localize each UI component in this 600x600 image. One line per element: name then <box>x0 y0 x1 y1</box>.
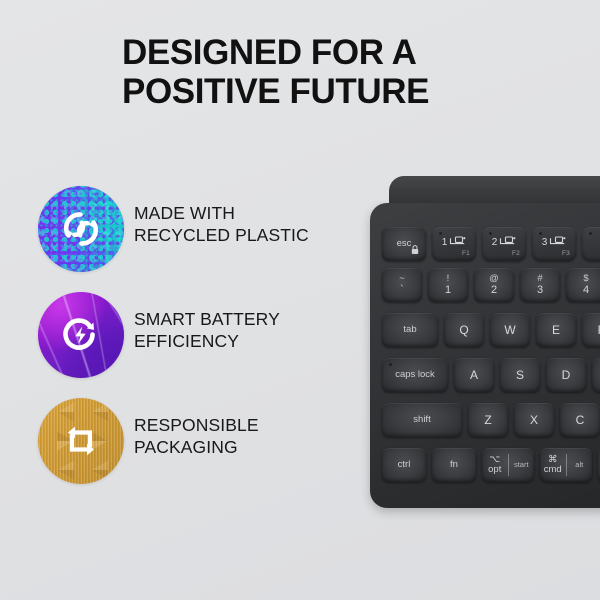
key-label-secondary: start <box>514 461 529 469</box>
key-x[interactable]: X <box>514 403 554 437</box>
key-q[interactable]: Q <box>444 313 484 347</box>
key-label: C <box>576 414 585 427</box>
device-screen-icon <box>449 236 466 250</box>
key-led-indicator <box>489 232 492 235</box>
feature-item-responsible-packaging: RESPONSIBLE PACKAGING <box>38 398 358 504</box>
key-f[interactable]: F <box>592 358 600 392</box>
key-3[interactable]: # 3 <box>520 268 560 302</box>
key-fn-sublabel: F1 <box>462 251 470 258</box>
keyboard-keys: esc 1 <box>370 203 600 508</box>
key-label: E <box>552 324 560 337</box>
key-1[interactable]: ! 1 <box>428 268 468 302</box>
key-tab[interactable]: tab <box>382 313 438 347</box>
key-label: Q <box>459 324 468 337</box>
key-backtick[interactable]: ~ ` <box>382 268 422 302</box>
key-fn-main: 2 <box>482 236 526 250</box>
keyboard-row-home-row: caps lock A S D F <box>382 358 600 392</box>
key-label: ctrl <box>398 460 411 470</box>
key-f4[interactable]: 4 F4 <box>582 227 600 261</box>
key-fn-main: 3 <box>532 236 576 250</box>
feature-list: MADE WITH RECYCLED PLASTIC SMART BATTERY… <box>38 186 358 504</box>
key-win-side: alt <box>567 448 593 482</box>
key-fn-main: 4 <box>582 236 600 247</box>
feature-label: MADE WITH RECYCLED PLASTIC <box>134 203 369 247</box>
key-mac-side: ⌥ opt <box>482 448 508 482</box>
key-command-alt[interactable]: ⌘ cmd alt <box>540 448 592 482</box>
key-4[interactable]: $ 4 <box>566 268 600 302</box>
key-label: 3 <box>542 238 548 249</box>
key-label: esc <box>397 239 412 249</box>
device-screen-icon <box>549 236 566 250</box>
key-label: ` <box>400 285 404 297</box>
key-label-shifted: $ <box>583 274 588 284</box>
key-caps-lock[interactable]: caps lock <box>382 358 448 392</box>
key-label: X <box>530 414 538 427</box>
key-label: fn <box>450 460 458 470</box>
key-w[interactable]: W <box>490 313 530 347</box>
key-esc[interactable]: esc <box>382 227 426 261</box>
key-shift[interactable]: shift <box>382 403 462 437</box>
promo-graphic: DESIGNED FOR A POSITIVE FUTURE <box>0 0 600 600</box>
feature-item-recycled-plastic: MADE WITH RECYCLED PLASTIC <box>38 186 358 292</box>
key-ctrl[interactable]: ctrl <box>382 448 426 482</box>
key-mac-side: ⌘ cmd <box>540 448 566 482</box>
key-label-secondary: alt <box>575 461 583 469</box>
key-fn-sublabel: F3 <box>562 251 570 258</box>
key-label: caps lock <box>395 370 435 380</box>
feature-label: SMART BATTERY EFFICIENCY <box>134 309 369 353</box>
key-d[interactable]: D <box>546 358 586 392</box>
feature-label: RESPONSIBLE PACKAGING <box>134 415 369 459</box>
key-label: 1 <box>445 285 451 297</box>
key-c[interactable]: C <box>560 403 600 437</box>
key-label: cmd <box>544 465 562 475</box>
key-r[interactable]: R <box>582 313 600 347</box>
key-z[interactable]: Z <box>468 403 508 437</box>
key-label: W <box>504 324 515 337</box>
key-label-shifted: ~ <box>399 274 405 284</box>
key-label-shifted: @ <box>489 274 499 284</box>
keyboard-row-bottom-row: ctrl fn ⌥ opt start ⌘ <box>382 448 600 482</box>
key-led-indicator <box>439 232 442 235</box>
key-label: S <box>516 369 524 382</box>
key-label: 1 <box>442 238 448 249</box>
key-2[interactable]: @ 2 <box>474 268 514 302</box>
page-title: DESIGNED FOR A POSITIVE FUTURE <box>122 33 542 111</box>
key-label-shifted: # <box>537 274 542 284</box>
key-label: 3 <box>537 285 543 297</box>
key-a[interactable]: A <box>454 358 494 392</box>
key-label: 2 <box>492 238 498 249</box>
key-fn[interactable]: fn <box>432 448 476 482</box>
key-label: Z <box>484 414 491 427</box>
key-led-indicator <box>539 232 542 235</box>
key-label: shift <box>413 415 430 425</box>
key-label: opt <box>488 465 501 475</box>
key-led-indicator <box>389 363 392 366</box>
key-s[interactable]: S <box>500 358 540 392</box>
keyboard-row-tab-row: tab Q W E R <box>382 313 600 347</box>
battery-recharge-bolt-icon <box>38 292 124 378</box>
key-label: tab <box>403 325 416 335</box>
keyboard-product-image: esc 1 <box>370 176 600 511</box>
feature-item-smart-battery: SMART BATTERY EFFICIENCY <box>38 292 358 398</box>
square-recycle-arrows-icon <box>38 398 124 484</box>
key-f2[interactable]: 2 F2 <box>482 227 526 261</box>
keyboard-row-shift-row: shift Z X C <box>382 403 600 437</box>
key-e[interactable]: E <box>536 313 576 347</box>
key-label: 4 <box>583 285 589 297</box>
badge-smart-battery <box>38 292 124 378</box>
keyboard-row-number-row: ~ ` ! 1 @ 2 # 3 $ 4 <box>382 268 600 302</box>
key-label-shifted: ! <box>447 274 450 284</box>
key-f3[interactable]: 3 F3 <box>532 227 576 261</box>
key-led-indicator <box>589 232 592 235</box>
key-label: D <box>562 369 571 382</box>
key-fn-sublabel: F2 <box>512 251 520 258</box>
badge-recycled-plastic <box>38 186 124 272</box>
key-fn-main: 1 <box>432 236 476 250</box>
key-label: 2 <box>491 285 497 297</box>
lock-icon <box>411 245 419 258</box>
keyboard-row-function-row: esc 1 <box>382 227 600 261</box>
key-win-side: start <box>509 448 535 482</box>
key-label: A <box>470 369 478 382</box>
key-f1[interactable]: 1 F1 <box>432 227 476 261</box>
badge-responsible-packaging <box>38 398 124 484</box>
key-option-start[interactable]: ⌥ opt start <box>482 448 534 482</box>
device-screen-icon <box>499 236 516 250</box>
recycle-loop-icon <box>38 186 124 272</box>
